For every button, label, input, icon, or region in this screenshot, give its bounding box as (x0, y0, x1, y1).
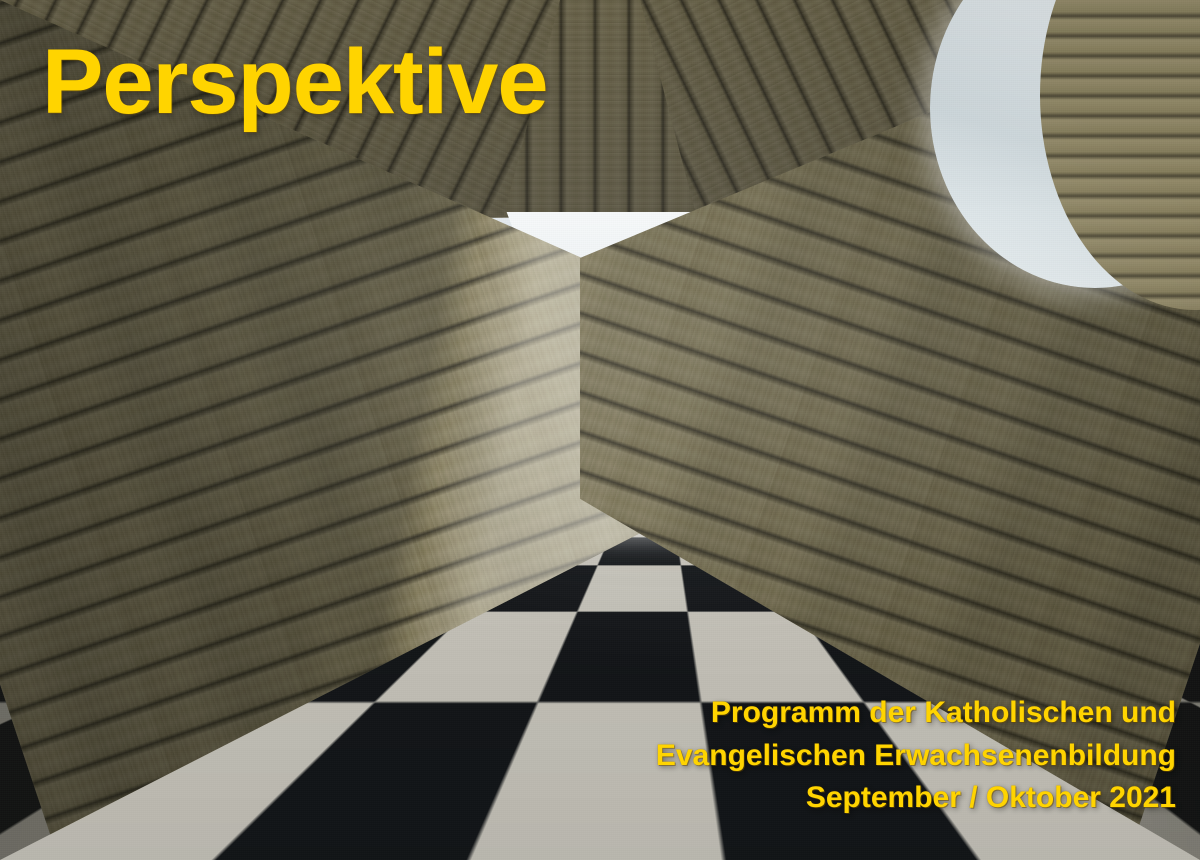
brochure-cover: Perspektive Programm der Katholischen un… (0, 0, 1200, 860)
issue-period: September / Oktober 2021 (656, 777, 1176, 820)
publisher-line-2: Evangelischen Erwachsenenbildung (656, 735, 1176, 778)
page-title: Perspektive (42, 36, 548, 128)
publisher-info: Programm der Katholischen und Evangelisc… (656, 692, 1176, 820)
publisher-line-1: Programm der Katholischen und (656, 692, 1176, 735)
